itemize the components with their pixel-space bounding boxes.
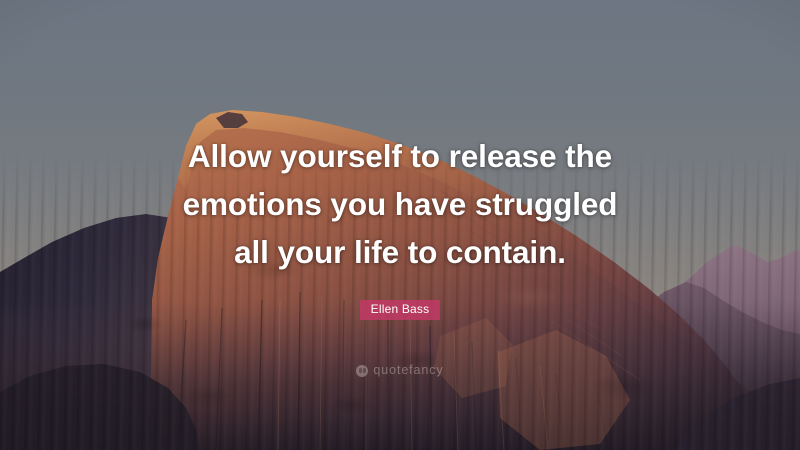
author-attribution-row: Ellen Bass [0,300,800,320]
author-name-badge[interactable]: Ellen Bass [360,300,441,320]
quote-line-1: Allow yourself to release the [60,132,740,180]
quote-line-3: all your life to contain. [60,228,740,276]
quote-line-2: emotions you have struggled [60,180,740,228]
quote-image-canvas: Allow yourself to release the emotions y… [0,0,800,450]
quote-text-block: Allow yourself to release the emotions y… [0,132,800,276]
